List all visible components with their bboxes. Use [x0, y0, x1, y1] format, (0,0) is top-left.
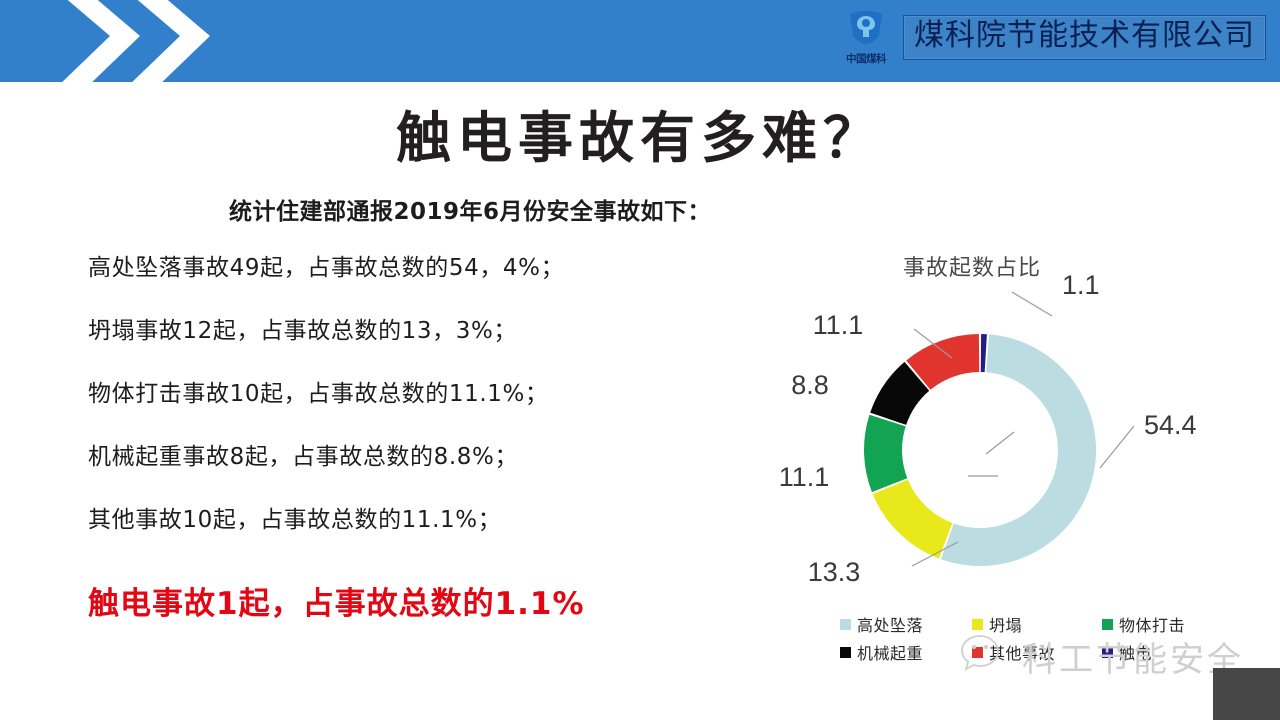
- legend-swatch-icon: [972, 647, 983, 658]
- accident-share-chart: 事故起数占比 11.1 8.8 11.1 13.3 1.1 54.4: [762, 236, 1280, 676]
- list-item: 坍塌事故12起，占事故总数的13，3%；: [88, 311, 728, 345]
- logo-wrap: 中国煤科: [835, 10, 897, 65]
- legend-item-collapse[interactable]: 坍塌: [972, 612, 1102, 636]
- page-title: 触电事故有多难？: [0, 93, 1280, 173]
- donut-chart: 11.1 8.8 11.1 13.3 1.1 54.4: [762, 236, 1280, 676]
- legend-label: 物体打击: [1119, 612, 1185, 636]
- legend-item-electric[interactable]: 触电: [1102, 640, 1232, 664]
- legend-item-machinery[interactable]: 机械起重: [840, 640, 972, 664]
- legend-item-fall[interactable]: 高处坠落: [840, 612, 972, 636]
- slice-label-other: 11.1: [813, 310, 864, 340]
- slice-label-collapse: 13.3: [808, 557, 861, 587]
- legend-label: 坍塌: [989, 612, 1022, 636]
- double-chevron-right-icon: [48, 0, 258, 82]
- legend-item-other[interactable]: 其他事故: [972, 640, 1102, 664]
- slice-label-fall: 54.4: [1144, 410, 1197, 440]
- slice-label-object-strike: 11.1: [779, 462, 830, 492]
- legend-swatch-icon: [972, 619, 983, 630]
- coal-science-logo-icon: [846, 10, 886, 53]
- legend-label: 机械起重: [857, 640, 923, 664]
- page-subtitle: 统计住建部通报2019年6月份安全事故如下：: [0, 192, 940, 226]
- donut-slice[interactable]: [864, 415, 907, 492]
- logo-caption: 中国煤科: [846, 54, 886, 65]
- legend-label: 触电: [1119, 640, 1152, 664]
- legend-swatch-icon: [1102, 619, 1113, 630]
- company-name: 煤科院节能技术有限公司: [914, 19, 1255, 54]
- leader-line-8-8: [986, 432, 1014, 454]
- chart-legend: 高处坠落 坍塌 物体打击 机械起重 其他事故 触电: [840, 612, 1240, 664]
- company-name-box: 煤科院节能技术有限公司: [903, 15, 1266, 61]
- list-item: 高处坠落事故49起，占事故总数的54，4%；: [88, 248, 728, 282]
- donut-slice[interactable]: [981, 334, 987, 372]
- electric-shock-highlight: 触电事故1起，占事故总数的1.1%: [88, 578, 585, 623]
- legend-label: 高处坠落: [857, 612, 923, 636]
- leader-line-1-1: [1012, 292, 1052, 316]
- slice-label-electric: 1.1: [1062, 270, 1100, 300]
- list-item: 其他事故10起，占事故总数的11.1%；: [88, 500, 728, 534]
- donut-slice-group: [864, 334, 1096, 566]
- legend-swatch-icon: [1102, 647, 1113, 658]
- list-item: 机械起重事故8起，占事故总数的8.8%；: [88, 437, 728, 471]
- list-item: 物体打击事故10起，占事故总数的11.1%；: [88, 374, 728, 408]
- legend-item-object-strike[interactable]: 物体打击: [1102, 612, 1232, 636]
- leader-line-54-4: [1100, 426, 1134, 468]
- donut-slice[interactable]: [873, 480, 953, 559]
- corner-block: [1213, 668, 1280, 720]
- legend-label: 其他事故: [989, 640, 1055, 664]
- slice-label-machinery: 8.8: [791, 370, 829, 400]
- brand-block: 中国煤科 煤科院节能技术有限公司: [835, 10, 1266, 65]
- page-header: 中国煤科 煤科院节能技术有限公司: [0, 0, 1280, 82]
- accident-stat-list: 高处坠落事故49起，占事故总数的54，4%； 坍塌事故12起，占事故总数的13，…: [88, 248, 728, 563]
- legend-swatch-icon: [840, 619, 851, 630]
- legend-swatch-icon: [840, 647, 851, 658]
